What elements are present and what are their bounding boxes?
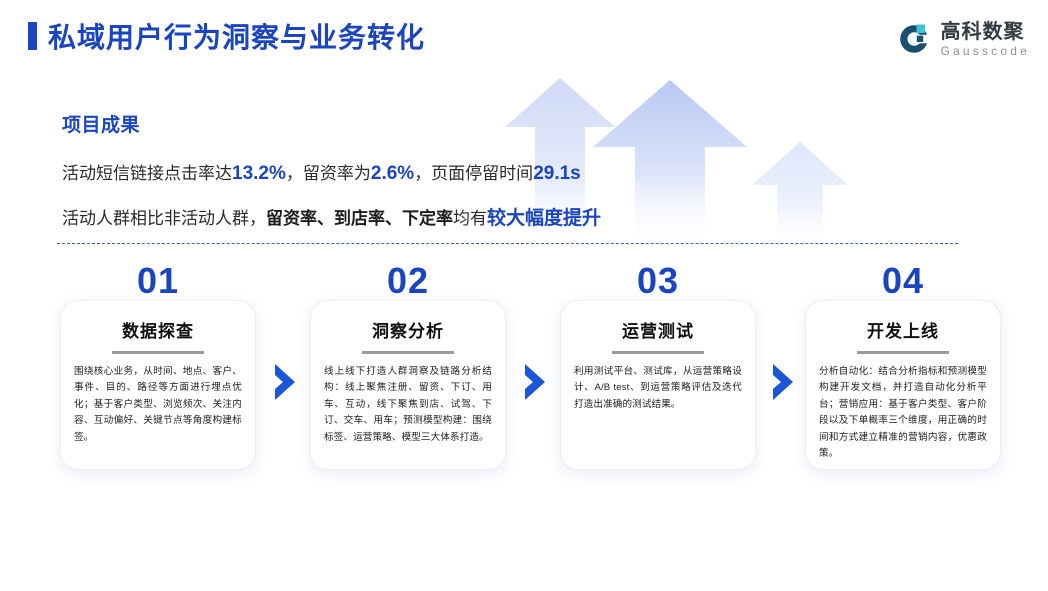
step-rule-1: [112, 351, 204, 354]
step-number-1: 01: [60, 260, 256, 302]
step-card-3-body[interactable]: 运营测试 利用测试平台、测试库，从运营策略设计、A/B test、到运营策略评估…: [560, 300, 756, 470]
page-header: 私域用户行为洞察与业务转化 高科数聚 Gausscode: [0, 0, 1048, 78]
metric-click-rate: 13.2%: [232, 163, 286, 184]
title-accent-bar: [28, 22, 37, 50]
results-line1-part3: ，页面停留时间: [414, 164, 533, 183]
results-heading: 项目成果: [62, 110, 962, 137]
project-results-block: 项目成果 活动短信链接点击率达13.2%，留资率为2.6%，页面停留时间29.1…: [62, 110, 962, 250]
step-rule-4: [857, 351, 949, 354]
step-title-3: 运营测试: [574, 317, 742, 342]
results-line2-part1: 活动人群相比非活动人群，: [62, 209, 266, 228]
logo-name-en: Gausscode: [940, 45, 1030, 57]
step-card-2[interactable]: 02 洞察分析 线上线下打造人群洞察及链路分析结构：线上聚焦注册、留资、下订、用…: [310, 300, 506, 470]
step-title-2: 洞察分析: [324, 317, 492, 342]
logo-name-cn: 高科数聚: [940, 22, 1030, 42]
step-text-1: 围绕核心业务，从时间、地点、客户、事件、目的、路径等方面进行埋点优化；基于客户类…: [74, 364, 242, 447]
step-card-4[interactable]: 04 开发上线 分析自动化：结合分析指标和预测模型构建开发文档，并打造自动化分析…: [805, 300, 1001, 470]
results-line2-highlight: 较大幅度提升: [487, 208, 601, 229]
step-number-3: 03: [560, 260, 756, 302]
chevron-right-icon: [522, 362, 548, 402]
step-text-3: 利用测试平台、测试库，从运营策略设计、A/B test、到运营策略评估及迭代打造…: [574, 364, 742, 414]
step-title-1: 数据探查: [74, 317, 242, 342]
process-steps: 01 数据探查 围绕核心业务，从时间、地点、客户、事件、目的、路径等方面进行埋点…: [0, 262, 1048, 522]
step-card-4-body[interactable]: 开发上线 分析自动化：结合分析指标和预测模型构建开发文档，并打造自动化分析平台；…: [805, 300, 1001, 470]
dashed-divider: [57, 243, 958, 244]
results-line-1: 活动短信链接点击率达13.2%，留资率为2.6%，页面停留时间29.1s: [62, 159, 962, 188]
step-title-4: 开发上线: [819, 317, 987, 342]
step-number-2: 02: [310, 260, 506, 302]
results-line2-bold: 留资率、到店率、下定率: [266, 209, 453, 228]
step-card-2-body[interactable]: 洞察分析 线上线下打造人群洞察及链路分析结构：线上聚焦注册、留资、下订、用车、互…: [310, 300, 506, 470]
results-line1-part2: ，留资率为: [286, 164, 371, 183]
metric-dwell-time: 29.1s: [533, 163, 581, 184]
brand-logo: 高科数聚 Gausscode: [897, 18, 1030, 60]
gausscode-c-mark-icon: [897, 22, 931, 56]
step-card-1-body[interactable]: 数据探查 围绕核心业务，从时间、地点、客户、事件、目的、路径等方面进行埋点优化；…: [60, 300, 256, 470]
step-rule-3: [612, 351, 704, 354]
step-rule-2: [362, 351, 454, 354]
chevron-right-icon: [770, 362, 796, 402]
logo-text: 高科数聚 Gausscode: [940, 22, 1030, 57]
results-line-2: 活动人群相比非活动人群，留资率、到店率、下定率均有较大幅度提升: [62, 204, 962, 233]
page-title: 私域用户行为洞察与业务转化: [48, 16, 425, 56]
step-text-2: 线上线下打造人群洞察及链路分析结构：线上聚焦注册、留资、下订、用车、互动，线下聚…: [324, 364, 492, 447]
step-number-4: 04: [805, 260, 1001, 302]
results-line1-part1: 活动短信链接点击率达: [62, 164, 232, 183]
results-line2-part2: 均有: [453, 209, 487, 228]
step-card-1[interactable]: 01 数据探查 围绕核心业务，从时间、地点、客户、事件、目的、路径等方面进行埋点…: [60, 300, 256, 470]
metric-lead-rate: 2.6%: [371, 163, 414, 184]
step-card-3[interactable]: 03 运营测试 利用测试平台、测试库，从运营策略设计、A/B test、到运营策…: [560, 300, 756, 470]
chevron-right-icon: [272, 362, 298, 402]
step-text-4: 分析自动化：结合分析指标和预测模型构建开发文档，并打造自动化分析平台；营销应用：…: [819, 364, 987, 463]
